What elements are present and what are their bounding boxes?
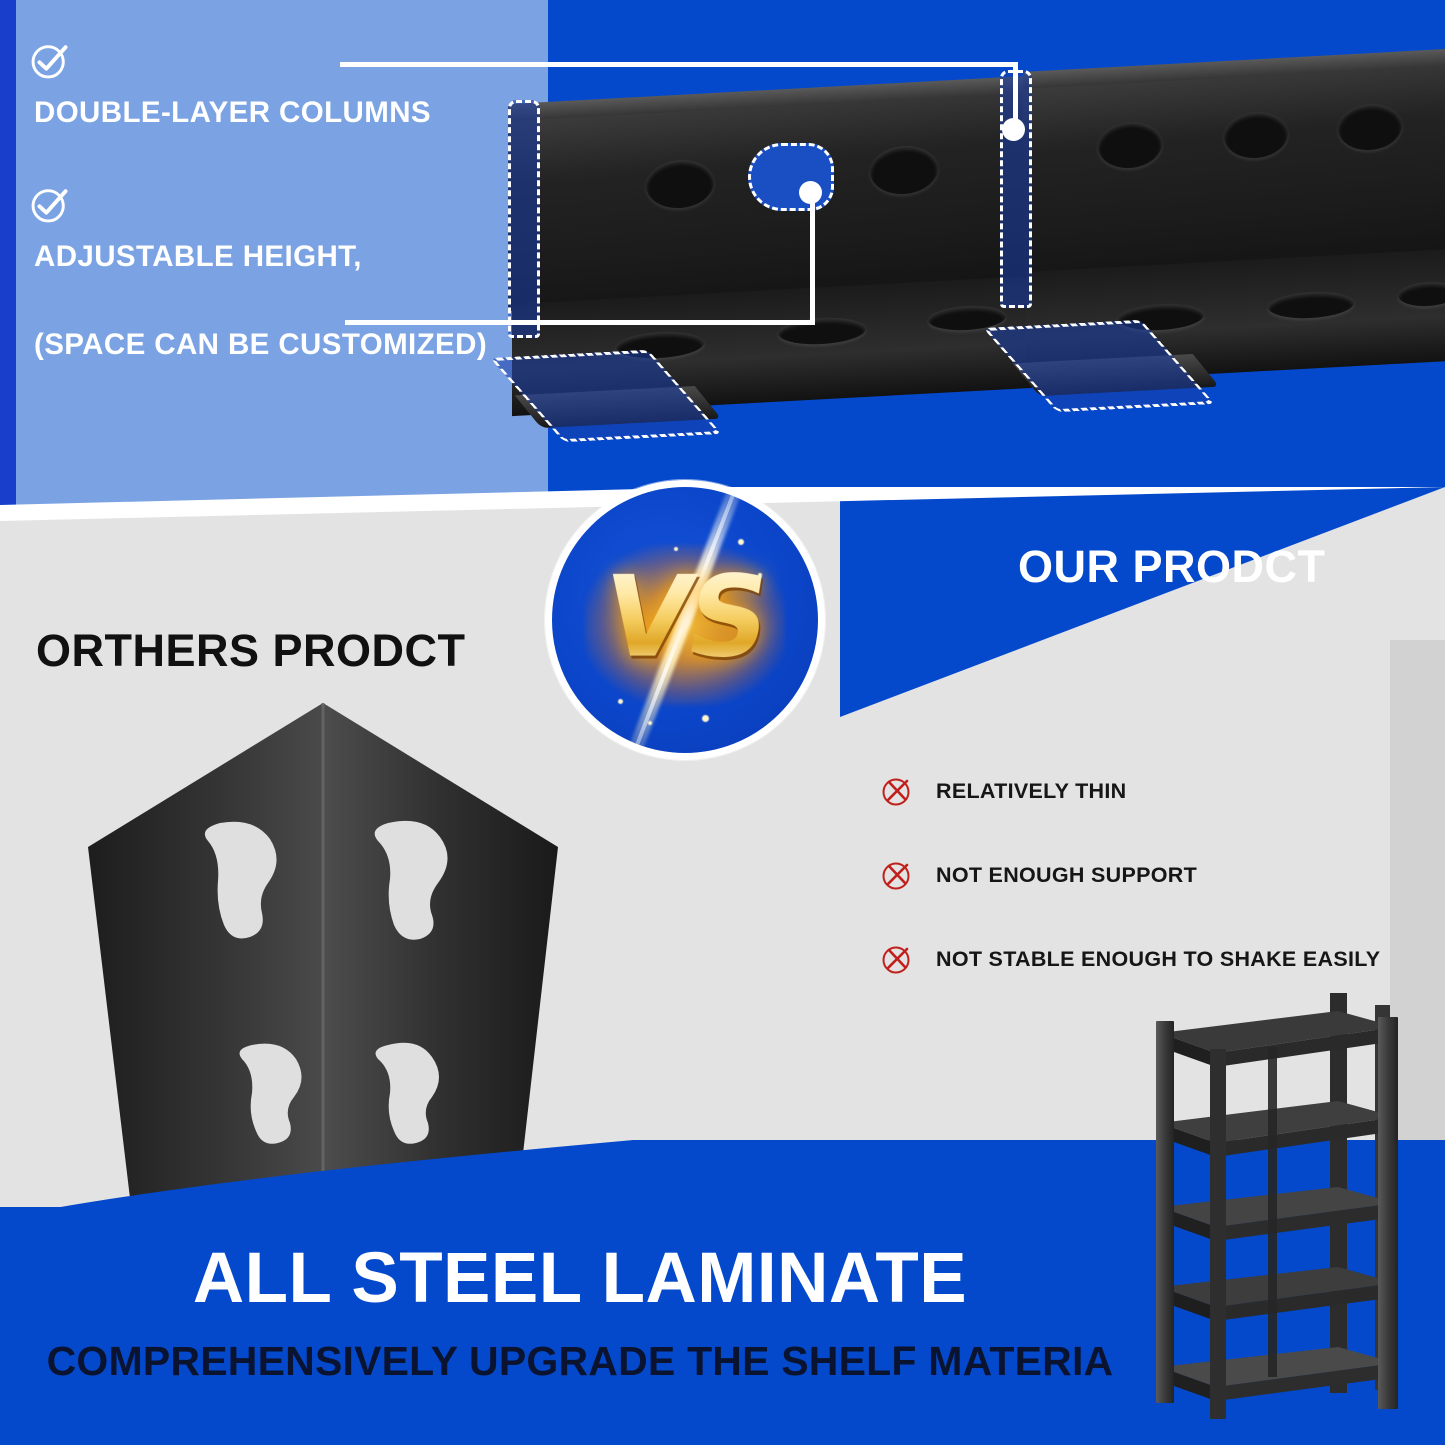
heading-others-product: ORTHERS PRODCT [36,625,466,677]
check-circle-icon [28,38,72,82]
con-label: NOT STABLE ENOUGH TO SHAKE EASILY [936,947,1380,972]
heading-our-product: OUR PRODCT [1018,541,1326,593]
vs-badge: VS [545,480,825,760]
vs-label: VS [596,562,773,674]
spark [738,539,744,545]
feature-list: DOUBLE-LAYER COLUMNS ADJUSTABLE HEIGHT, … [28,38,548,368]
callout-dot-top [1002,118,1025,141]
spark [618,699,623,704]
feature-label-secondary: (SPACE CAN BE CUSTOMIZED) [34,328,548,362]
feature-item-adjustable-height: ADJUSTABLE HEIGHT, (SPACE CAN BE CUSTOMI… [28,182,548,362]
spark [674,547,678,551]
footer-headline: ALL STEEL LAMINATE [0,1238,1160,1319]
con-item: RELATIVELY THIN [880,775,1400,807]
con-item: NOT ENOUGH SUPPORT [880,859,1400,891]
competitor-angle-iron-photo [70,695,590,1215]
keyhole-slot-highlight [748,143,834,211]
footer-subheadline: COMPREHENSIVELY UPGRADE THE SHELF MATERI… [0,1338,1160,1385]
callout-dot-bottom [799,181,822,204]
shelf-deck [1160,1267,1396,1321]
shelf-deck [1160,1101,1396,1157]
feature-label: ADJUSTABLE HEIGHT, [34,240,548,274]
cross-circle-icon [880,859,912,891]
callout-line-bottom-riser [810,192,815,325]
shelf-unit-photo [1120,975,1420,1430]
spark [758,573,762,577]
check-circle-icon [28,182,72,226]
feature-item-double-layer: DOUBLE-LAYER COLUMNS [28,38,548,130]
feature-label: DOUBLE-LAYER COLUMNS [34,96,548,130]
spark [648,721,652,725]
cross-circle-icon [880,943,912,975]
cross-circle-icon [880,775,912,807]
shelf-deck [1160,1011,1396,1067]
left-accent-stripe [0,0,16,548]
product-infographic: DOUBLE-LAYER COLUMNS ADJUSTABLE HEIGHT, … [0,0,1445,1445]
con-item: NOT STABLE ENOUGH TO SHAKE EASILY [880,943,1400,975]
shelf-deck [1160,1187,1396,1241]
con-label: RELATIVELY THIN [936,779,1126,804]
spark [702,715,709,722]
con-label: NOT ENOUGH SUPPORT [936,863,1197,888]
shelf-deck [1160,1347,1396,1401]
